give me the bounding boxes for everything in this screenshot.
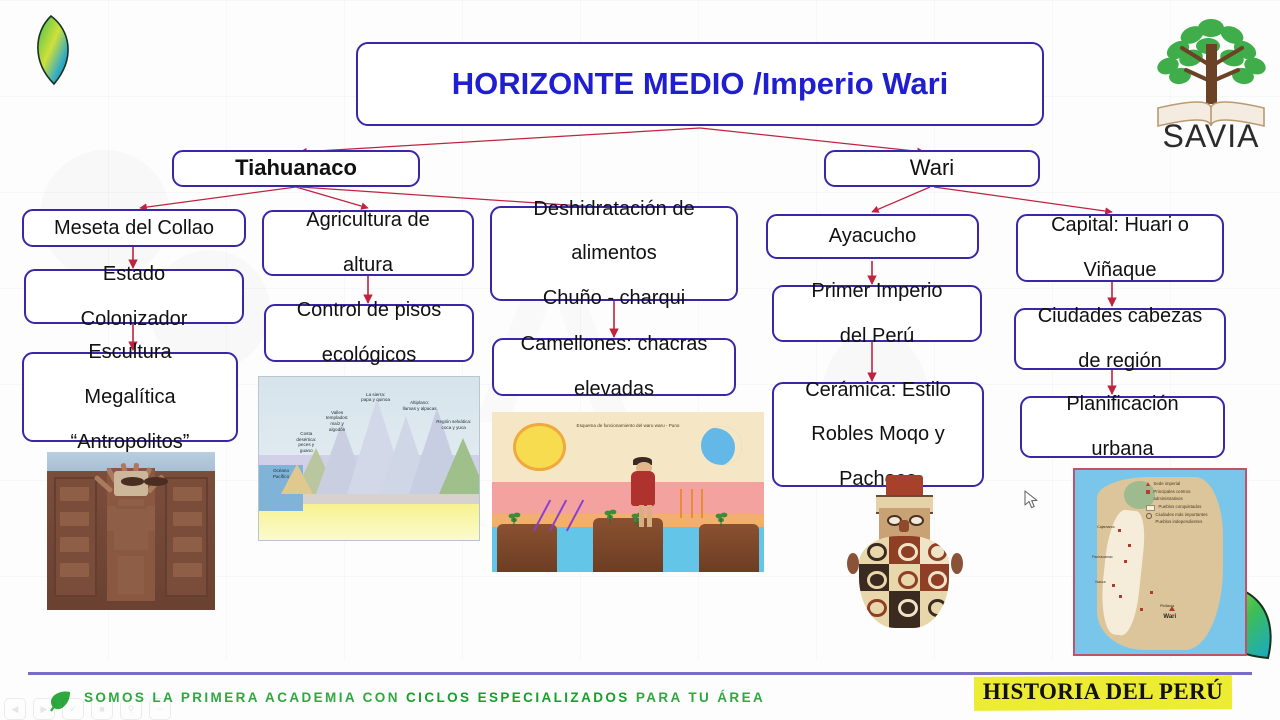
node-tiahuanaco: Tiahuanaco — [172, 150, 420, 187]
node-wari: Wari — [824, 150, 1040, 187]
floors-label-sierra: La sierra: papa y quinoa — [354, 392, 398, 403]
node-estado-colonizador: Estado Colonizador — [24, 269, 244, 324]
floors-label-altiplano: Altiplano: llamas y alpacas — [395, 400, 443, 411]
map-legend: Sede imperial Principales centros admini… — [1146, 481, 1240, 527]
legend-band-icon — [1146, 505, 1155, 511]
node-deshidratacion-alimentos: Deshidratación de alimentos Chuño - char… — [490, 206, 738, 301]
search-icon: ⚲ — [120, 698, 142, 720]
node-primer-imperio-del-peru: Primer Imperio del Perú — [772, 285, 982, 342]
node-meseta-del-collao: Meseta del Collao — [22, 209, 246, 247]
floors-label-selva: Región selvática: coca y yuca — [431, 419, 477, 430]
page-title: HORIZONTE MEDIO /Imperio Wari — [452, 66, 949, 102]
waru-caption: Esquema de funcionamiento del waru waru … — [563, 423, 694, 428]
tiahuanaco-relief-image — [47, 452, 215, 610]
wari-empire-map-image: Sede imperial Principales centros admini… — [1073, 468, 1247, 656]
node-capital-huari-vinaque: Capital: Huari o Viñaque — [1016, 214, 1224, 282]
slide-canvas: A SAVIA — [0, 0, 1280, 720]
stop-icon: ■ — [91, 698, 113, 720]
subject-label: HISTORIA DEL PERÚ — [974, 679, 1232, 705]
node-planificacion-urbana: Planificación urbana — [1020, 396, 1225, 458]
savia-wordmark: SAVIA — [1146, 118, 1276, 155]
floors-label-oceano: Océano Pacífico — [263, 468, 298, 479]
slide-title-box: HORIZONTE MEDIO /Imperio Wari — [356, 42, 1044, 126]
map-label-wari: Wari — [1163, 614, 1176, 620]
legend-triangle-icon — [1146, 482, 1150, 486]
floors-label-costa: Costa desértica: peces y guano — [288, 431, 325, 454]
watermark-control-icons: ◀ ▶ ✓ ■ ⚲ − — [4, 698, 171, 720]
footer-tagline: SOMOS LA PRIMERA ACADEMIA CON CICLOS ESP… — [84, 690, 765, 705]
check-icon: ✓ — [62, 698, 84, 720]
minus-icon: − — [149, 698, 171, 720]
floors-label-valles: Valles templados: maíz y algodón — [318, 410, 355, 433]
moon-icon — [701, 426, 742, 464]
leaf-icon — [22, 14, 80, 86]
ecological-floors-image: Océano Pacífico Costa desértica: peces y… — [258, 376, 480, 541]
waru-waru-image: Esquema de funcionamiento del waru waru … — [492, 412, 764, 572]
node-agricultura-de-altura: Agricultura de altura — [262, 210, 474, 276]
node-escultura-megalitica: Escultura Megalítica “Antropolitos” — [22, 352, 238, 442]
footer-divider — [28, 672, 1252, 675]
sun-icon — [516, 426, 562, 468]
play-icon: ▶ — [33, 698, 55, 720]
node-control-de-pisos-ecologicos: Control de pisos ecológicos — [264, 304, 474, 362]
legend-square-icon — [1146, 490, 1150, 494]
back-icon: ◀ — [4, 698, 26, 720]
wari-vessel-image — [845, 470, 965, 635]
node-ciudades-cabezas-de-region: Ciudades cabezas de región — [1014, 308, 1226, 370]
node-camellones: Camellones: chacras elevadas — [492, 338, 736, 396]
mouse-cursor — [1024, 490, 1040, 510]
legend-circle-icon — [1146, 513, 1152, 519]
node-ayacucho: Ayacucho — [766, 214, 979, 259]
